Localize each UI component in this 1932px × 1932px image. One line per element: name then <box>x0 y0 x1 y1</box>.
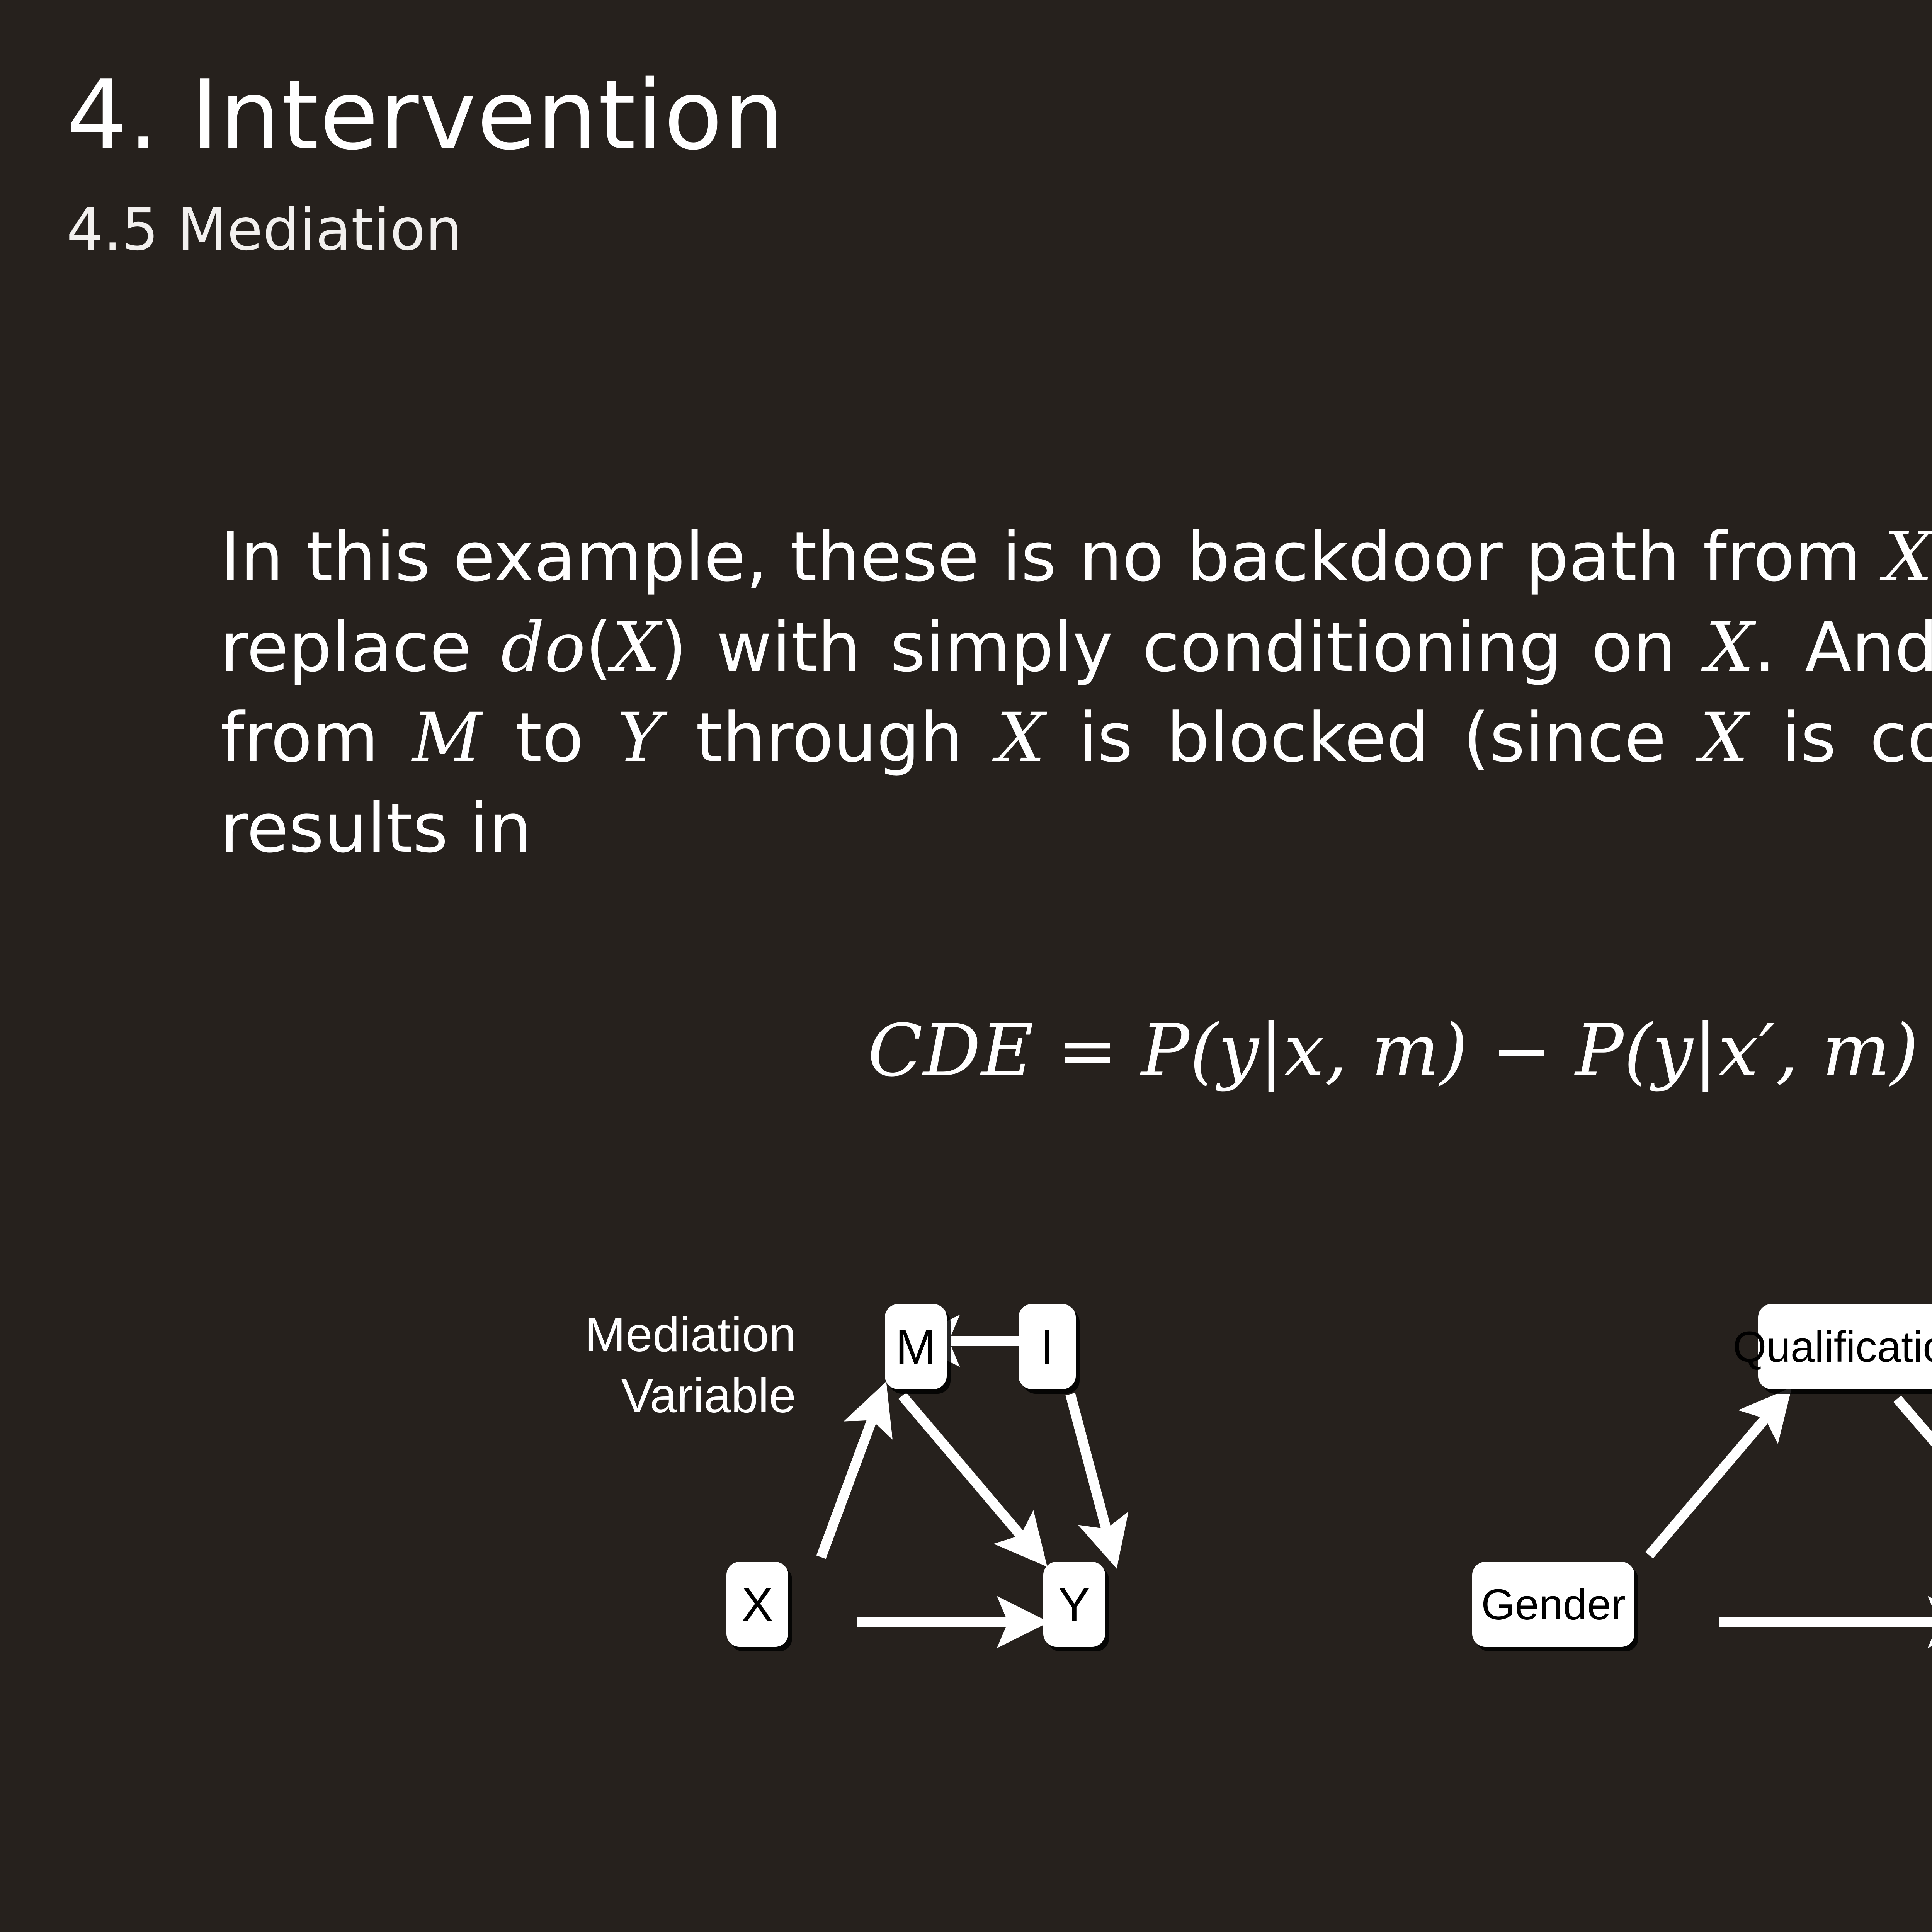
mediation-variable-caption: Mediation Variable <box>533 1304 796 1426</box>
node-gender-label: Gender <box>1481 1580 1626 1629</box>
node-x-label: X <box>741 1577 774 1633</box>
hiring-causal-diagram: Qualification Gender Hiring <box>1464 1283 1932 1692</box>
node-qualification[interactable]: Qualification <box>1758 1304 1932 1389</box>
edge-qualification-to-hiring <box>1897 1399 1932 1553</box>
mediation-causal-diagram: Mediation Variable M I X Y <box>533 1283 1213 1692</box>
edge-m-to-y <box>902 1396 1037 1555</box>
node-y[interactable]: Y <box>1043 1562 1105 1647</box>
cde-equation: CDE = P(y|x, m) − P(y|x′, m) <box>0 1009 1932 1092</box>
node-m[interactable]: M <box>885 1304 947 1389</box>
node-qualification-label: Qualification <box>1733 1322 1932 1372</box>
node-i-label: I <box>1040 1319 1054 1375</box>
edge-i-to-y <box>1070 1394 1113 1554</box>
caption-line-2: Variable <box>533 1365 796 1426</box>
node-gender[interactable]: Gender <box>1472 1562 1634 1647</box>
node-x[interactable]: X <box>726 1562 788 1647</box>
node-m-label: M <box>896 1319 936 1375</box>
page-subtitle: 4.5 Mediation <box>66 201 462 259</box>
caption-line-1: Mediation <box>533 1304 796 1365</box>
edge-x-to-m <box>821 1396 881 1557</box>
edge-gender-to-qualification <box>1649 1399 1782 1555</box>
node-i[interactable]: I <box>1019 1304 1076 1389</box>
node-y-label: Y <box>1058 1577 1090 1633</box>
body-paragraph: In this example, these is no backdoor pa… <box>220 512 1932 874</box>
page-title: 4. Intervention <box>66 68 785 163</box>
